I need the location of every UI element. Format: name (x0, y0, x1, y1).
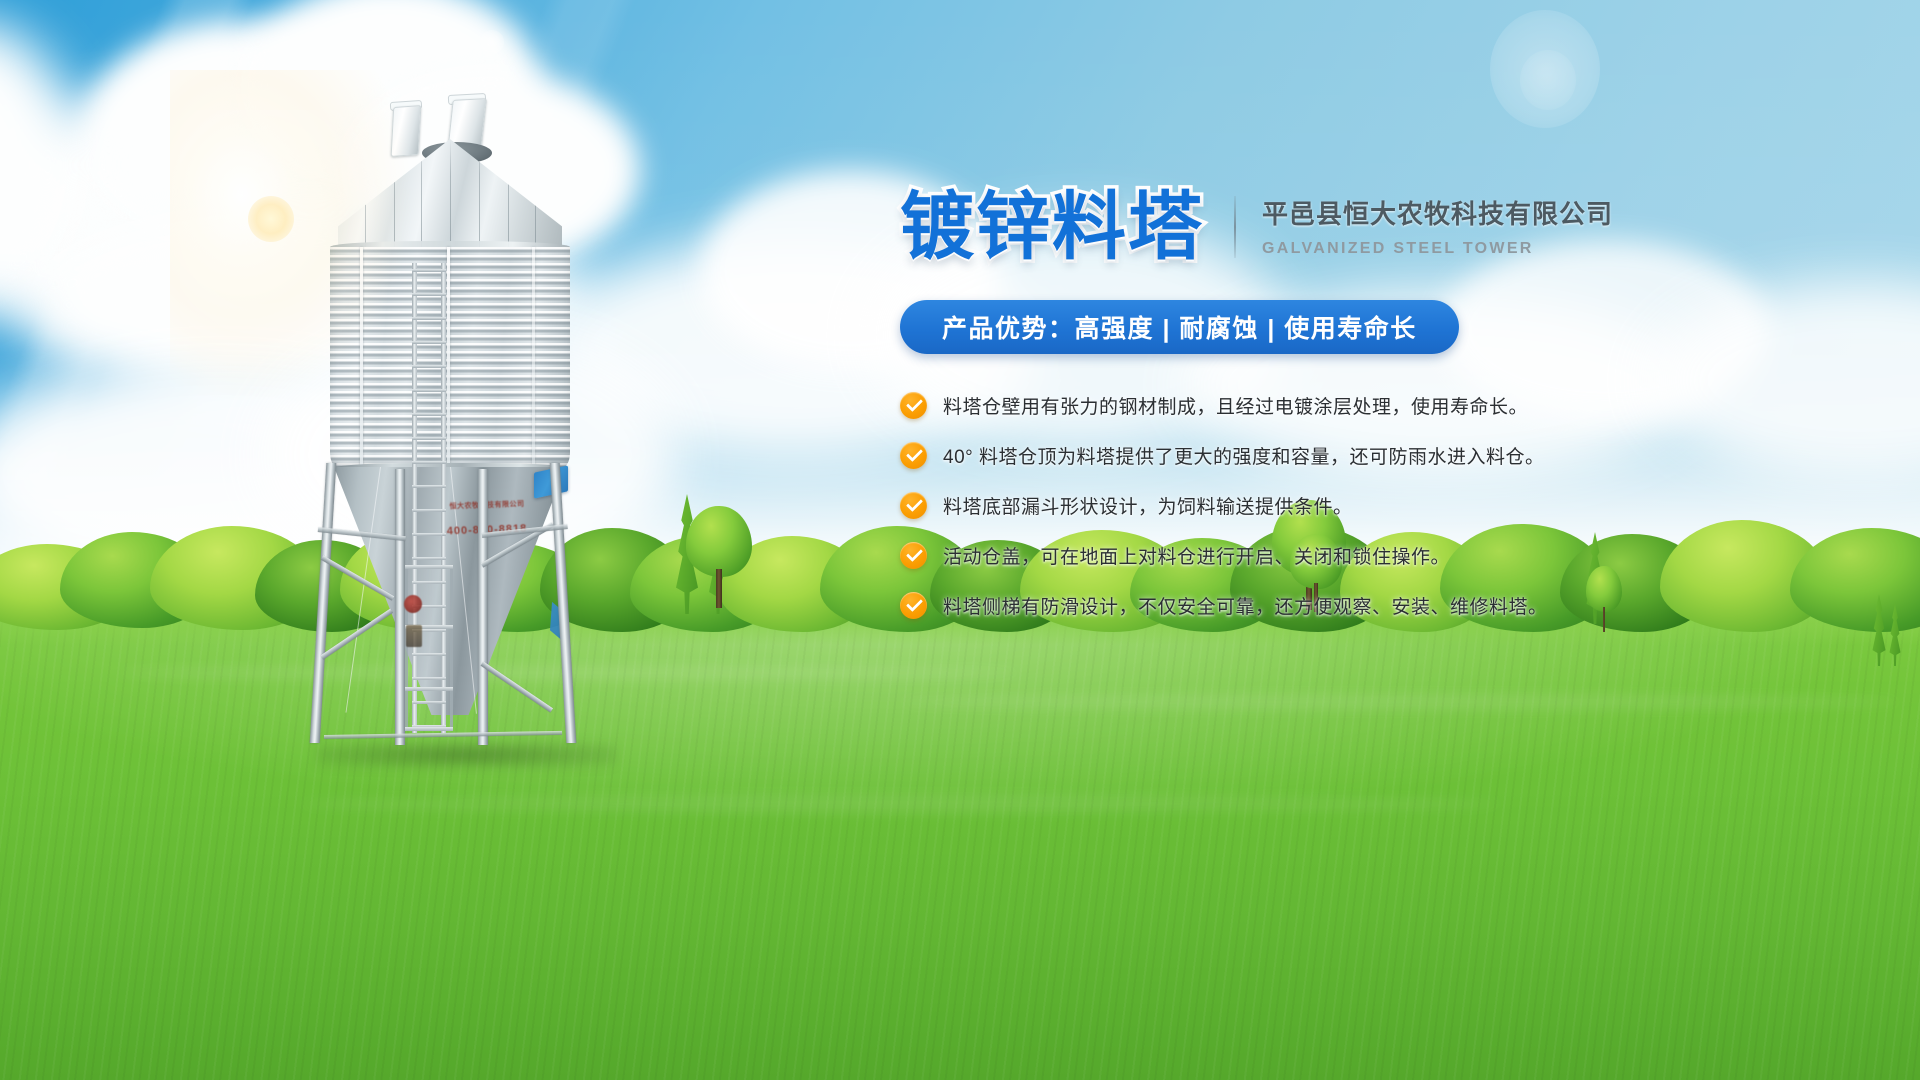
grass-texture (0, 575, 1920, 1080)
silo-cross-brace (481, 661, 553, 712)
company-block: 平邑县恒大农牧科技有限公司 GALVANIZED STEEL TOWER (1262, 194, 1613, 264)
page-title: 镀锌料塔 (900, 190, 1204, 264)
feature-text: 活动仓盖，可在地面上对料仓进行开启、关闭和锁住操作。 (943, 542, 1450, 569)
title-row: 镀锌料塔 平邑县恒大农牧科技有限公司 GALVANIZED STEEL TOWE… (900, 190, 1700, 264)
check-circle-icon (900, 592, 927, 619)
silo-support-leg (478, 469, 488, 745)
title-divider (1234, 196, 1236, 258)
silo-ladder-cage-rail (405, 727, 453, 731)
company-name: 平邑县恒大农牧科技有限公司 (1262, 194, 1613, 231)
feature-text: 料塔底部漏斗形状设计，为饲料输送提供条件。 (943, 492, 1353, 519)
silo-valve-wheel-icon (404, 595, 422, 613)
silo-vertical-seam (447, 247, 450, 469)
english-subtitle: GALVANIZED STEEL TOWER (1262, 240, 1613, 258)
silo-cross-brace (321, 608, 393, 659)
check-circle-icon (900, 542, 927, 569)
text-panel: 镀锌料塔 平邑县恒大农牧科技有限公司 GALVANIZED STEEL TOWE… (900, 190, 1700, 642)
feature-list: 料塔仓壁用有张力的钢材制成，且经过电镀涂层处理，使用寿命长。 40° 料塔仓顶为… (900, 392, 1700, 619)
banner-stage: 恒大农牧科技有限公司 400-850-8818 (0, 0, 1920, 1080)
feature-text: 料塔仓壁用有张力的钢材制成，且经过电镀涂层处理，使用寿命长。 (943, 392, 1528, 419)
silo-ladder-cage (405, 565, 453, 730)
silo-support-leg (310, 463, 337, 743)
galvanized-feed-silo: 恒大农牧科技有限公司 400-850-8818 (300, 95, 600, 755)
list-item: 料塔侧梯有防滑设计，不仅安全可靠，还方便观察、安装、维修料塔。 (900, 592, 1700, 619)
list-item: 40° 料塔仓顶为料塔提供了更大的强度和容量，还可防雨水进入料仓。 (900, 442, 1700, 469)
field-conifer (1884, 604, 1906, 666)
feature-text: 40° 料塔仓顶为料塔提供了更大的强度和容量，还可防雨水进入料仓。 (943, 442, 1545, 469)
feature-text: 料塔侧梯有防滑设计，不仅安全可靠，还方便观察、安装、维修料塔。 (943, 592, 1548, 619)
list-item: 料塔底部漏斗形状设计，为饲料输送提供条件。 (900, 492, 1700, 519)
silo-vertical-seam (532, 247, 535, 469)
silo-vertical-seam (360, 247, 363, 469)
check-circle-icon (900, 392, 927, 419)
grass-field (0, 575, 1920, 1080)
silo-ladder-cage-rail (405, 565, 453, 569)
silo-ladder-cage-rail (405, 687, 453, 691)
advantage-pill[interactable]: 产品优势：高强度 | 耐腐蚀 | 使用寿命长 (900, 300, 1459, 354)
silo-hatch (391, 105, 422, 157)
silo-outlet-port (406, 625, 422, 647)
check-circle-icon (900, 492, 927, 519)
silo-roof-cone (338, 139, 562, 257)
silo-support-leg (395, 469, 405, 745)
list-item: 料塔仓壁用有张力的钢材制成，且经过电镀涂层处理，使用寿命长。 (900, 392, 1700, 419)
field-tree (686, 506, 752, 602)
list-item: 活动仓盖，可在地面上对料仓进行开启、关闭和锁住操作。 (900, 542, 1700, 569)
check-circle-icon (900, 442, 927, 469)
